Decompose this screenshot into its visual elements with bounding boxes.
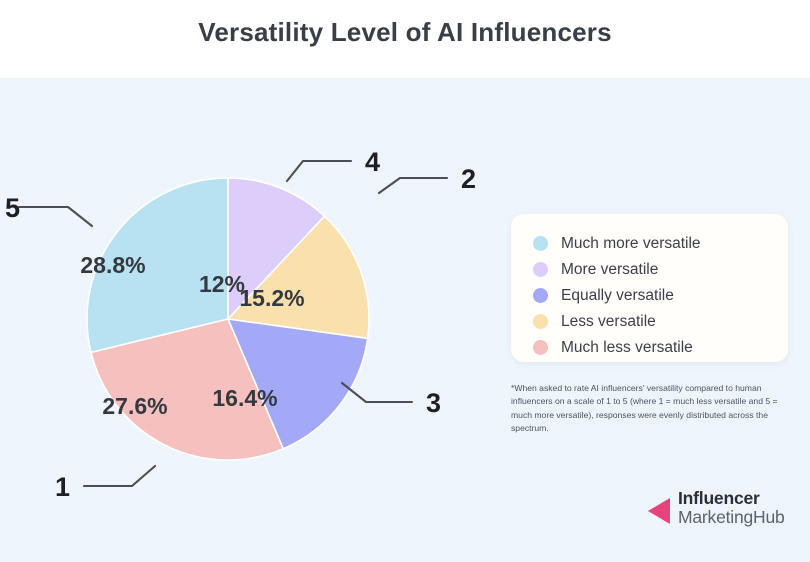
legend-color-swatch [533, 340, 548, 355]
slice-value-label-1: 27.6% [102, 393, 167, 419]
legend-color-swatch [533, 288, 548, 303]
legend-color-swatch [533, 262, 548, 277]
legend-color-swatch [533, 236, 548, 251]
category-label-2: 2 [461, 164, 476, 194]
pie-chart-area: 12% 15.2% 16.4% 27.6% 28.8% 4 2 3 1 5 [0, 78, 500, 562]
legend-item[interactable]: Much more versatile [533, 231, 701, 256]
infographic-page: Versatility Level of AI Influencers 12% … [0, 0, 810, 562]
legend-list: Much more versatileMore versatileEqually… [533, 231, 701, 361]
logo-line-marketinghub: MarketingHub [678, 508, 785, 527]
slice-value-label-2: 15.2% [239, 285, 304, 311]
legend-item[interactable]: More versatile [533, 257, 701, 282]
category-label-3: 3 [426, 388, 441, 418]
category-label-1: 1 [55, 472, 70, 502]
legend-item-label: Equally versatile [561, 287, 674, 305]
leader-line-1 [84, 466, 155, 486]
pie-chart-svg: 12% 15.2% 16.4% 27.6% 28.8% 4 2 3 1 5 [0, 78, 500, 562]
legend-item[interactable]: Less versatile [533, 309, 701, 334]
legend-item-label: Less versatile [561, 313, 656, 331]
legend-card: Much more versatileMore versatileEqually… [511, 214, 788, 362]
slice-value-label-4: 12% [199, 271, 245, 297]
footnote-text: *When asked to rate AI influencers' vers… [511, 382, 783, 435]
leader-line-4 [287, 161, 351, 181]
leader-line-5 [19, 207, 92, 226]
category-label-5: 5 [5, 193, 20, 223]
brand-logo[interactable]: Influencer MarketingHub [648, 489, 798, 533]
logo-line-influencer: Influencer [678, 489, 785, 508]
legend-item-label: Much more versatile [561, 235, 701, 253]
legend-color-swatch [533, 314, 548, 329]
slice-value-label-5: 28.8% [80, 252, 145, 278]
page-title: Versatility Level of AI Influencers [0, 17, 810, 48]
category-label-4: 4 [365, 147, 380, 177]
left-arrow-icon [648, 496, 676, 526]
slice-value-label-3: 16.4% [212, 385, 277, 411]
header-band: Versatility Level of AI Influencers [0, 0, 810, 78]
legend-item-label: Much less versatile [561, 339, 693, 357]
leader-line-2 [379, 178, 447, 193]
legend-item[interactable]: Much less versatile [533, 335, 701, 360]
logo-wordmark: Influencer MarketingHub [678, 489, 785, 527]
legend-item[interactable]: Equally versatile [533, 283, 701, 308]
legend-item-label: More versatile [561, 261, 658, 279]
